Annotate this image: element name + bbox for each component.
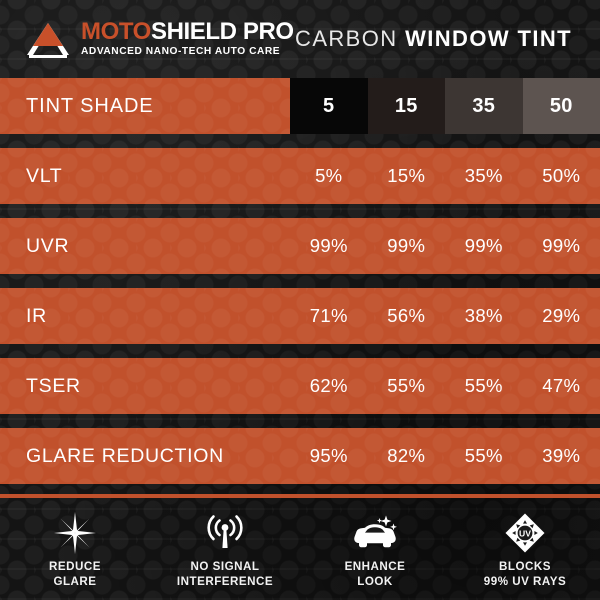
feature-bar: REDUCE GLARE NO SIGNAL (0, 498, 600, 600)
cell-value: 55% (368, 358, 446, 414)
feature-label-line1: NO SIGNAL (191, 560, 260, 573)
row-values: 5% 15% 35% 50% (290, 148, 600, 204)
triangle-logo-icon (22, 19, 74, 59)
feature-label-line2: LOOK (357, 575, 393, 588)
table-row: VLT 5% 15% 35% 50% (0, 148, 600, 204)
cell-value: 95% (290, 428, 368, 484)
shade-value-5: 5 (290, 95, 368, 118)
table-header-row: TINT SHADE 5 15 35 50 (0, 78, 600, 134)
feature-enhance-look: ENHANCE LOOK (300, 498, 450, 590)
svg-text:UV: UV (519, 528, 531, 538)
shade-value-15: 15 (368, 95, 446, 118)
cell-value: 71% (290, 288, 368, 344)
tint-shade-label: TINT SHADE (0, 78, 264, 134)
cell-value: 15% (368, 148, 446, 204)
cell-value: 38% (445, 288, 523, 344)
row-values: 99% 99% 99% 99% (290, 218, 600, 274)
row-label-glare-reduction: GLARE REDUCTION (0, 428, 264, 484)
cell-value: 47% (523, 358, 600, 414)
row-label-vlt: VLT (0, 148, 264, 204)
row-values: 62% 55% 55% 47% (290, 358, 600, 414)
cell-value: 5% (290, 148, 368, 204)
shade-value-35: 35 (445, 95, 523, 118)
page-title-bold: WINDOW TINT (405, 26, 572, 51)
cell-value: 50% (523, 148, 600, 204)
brand-name-part2: SHIELD PRO (151, 18, 294, 45)
feature-label-line1: ENHANCE (345, 560, 406, 573)
feature-label-line2: GLARE (53, 575, 96, 588)
brand-logo: MOTOSHIELD PRO ADVANCED NANO-TECH AUTO C… (22, 19, 294, 59)
shade-swatch-15[interactable]: 15 (368, 78, 446, 134)
cell-value: 35% (445, 148, 523, 204)
cell-value: 82% (368, 428, 446, 484)
car-sparkle-icon (350, 511, 400, 555)
cell-value: 99% (523, 218, 600, 274)
signal-antenna-icon (203, 511, 247, 555)
shade-swatch-50[interactable]: 50 (523, 78, 600, 134)
cell-value: 62% (290, 358, 368, 414)
cell-value: 99% (290, 218, 368, 274)
cell-value: 99% (368, 218, 446, 274)
cell-value: 55% (445, 428, 523, 484)
feature-no-signal-interference: NO SIGNAL INTERFERENCE (150, 498, 300, 590)
shade-value-50: 50 (523, 95, 600, 118)
feature-label: REDUCE GLARE (49, 559, 101, 590)
feature-label-line2: 99% UV RAYS (484, 575, 566, 588)
feature-blocks-uv: UV BLOCKS 99% UV RAYS (450, 498, 600, 590)
table-row: TSER 62% 55% 55% 47% (0, 358, 600, 414)
shade-swatch-group: 5 15 35 50 (290, 78, 600, 134)
page-title: CARBON WINDOW TINT (295, 26, 572, 52)
shade-swatch-5[interactable]: 5 (290, 78, 368, 134)
cell-value: 29% (523, 288, 600, 344)
table-row: IR 71% 56% 38% 29% (0, 288, 600, 344)
feature-reduce-glare: REDUCE GLARE (0, 498, 150, 590)
cell-value: 55% (445, 358, 523, 414)
brand-name-part1: MOTO (81, 18, 151, 45)
feature-label-line2: INTERFERENCE (177, 575, 273, 588)
cell-value: 39% (523, 428, 600, 484)
row-label-ir: IR (0, 288, 264, 344)
sunburst-glare-icon (53, 511, 97, 555)
feature-label: NO SIGNAL INTERFERENCE (177, 559, 273, 590)
feature-label-line1: BLOCKS (499, 560, 551, 573)
row-values: 71% 56% 38% 29% (290, 288, 600, 344)
feature-label: BLOCKS 99% UV RAYS (484, 559, 566, 590)
brand-tagline: ADVANCED NANO-TECH AUTO CARE (81, 47, 294, 57)
feature-label-line1: REDUCE (49, 560, 101, 573)
feature-label: ENHANCE LOOK (345, 559, 406, 590)
table-row: UVR 99% 99% 99% 99% (0, 218, 600, 274)
cell-value: 99% (445, 218, 523, 274)
orange-divider (0, 494, 600, 498)
tint-spec-infographic: MOTOSHIELD PRO ADVANCED NANO-TECH AUTO C… (0, 0, 600, 600)
shade-swatch-35[interactable]: 35 (445, 78, 523, 134)
tint-spec-table: TINT SHADE 5 15 35 50 VLT 5% (0, 78, 600, 498)
page-title-light: CARBON (295, 26, 398, 51)
cell-value: 56% (368, 288, 446, 344)
row-values: 95% 82% 55% 39% (290, 428, 600, 484)
row-label-uvr: UVR (0, 218, 264, 274)
uv-shield-icon: UV (503, 511, 547, 555)
header-bar: MOTOSHIELD PRO ADVANCED NANO-TECH AUTO C… (0, 0, 600, 78)
table-row: GLARE REDUCTION 95% 82% 55% 39% (0, 428, 600, 484)
row-label-tser: TSER (0, 358, 264, 414)
